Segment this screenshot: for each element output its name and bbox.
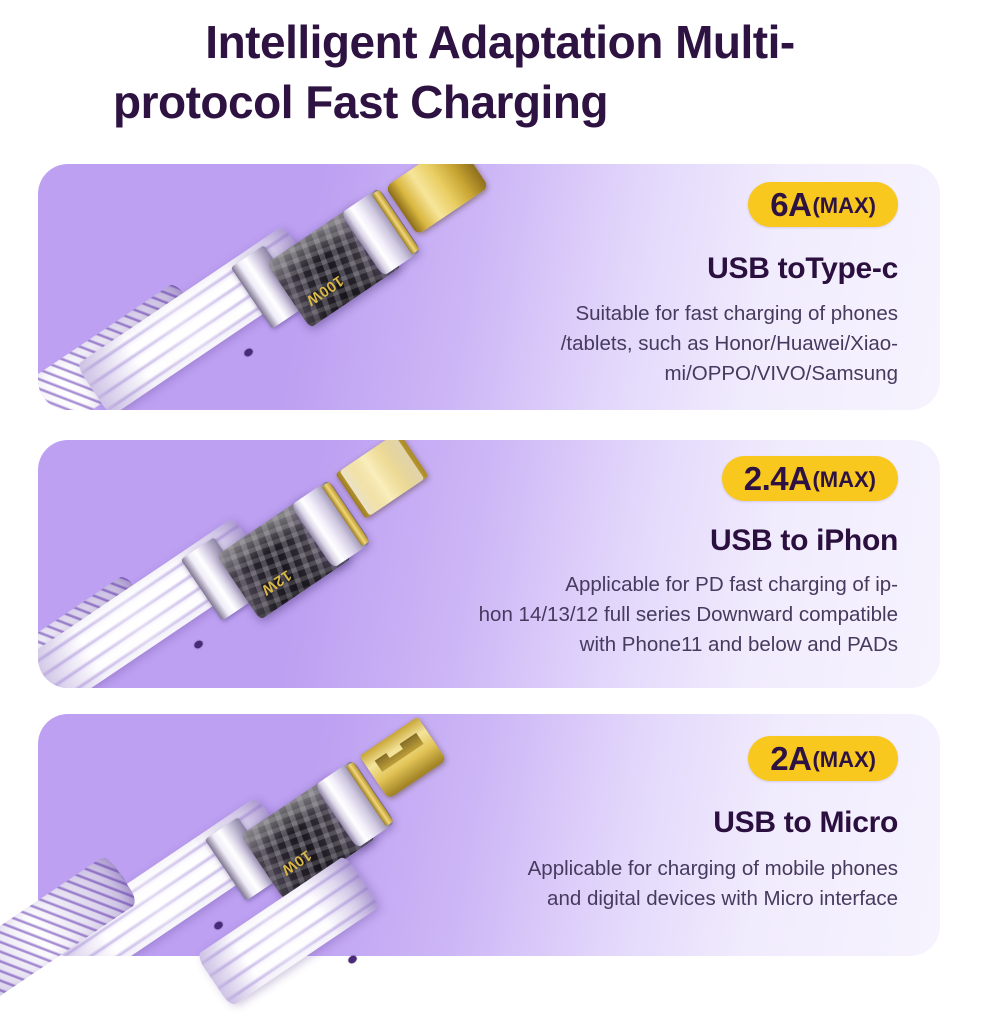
feature-card-usb-c: 100W 6A (MAX) USB toType-c Suitable for …	[38, 164, 940, 410]
connector-gold-ring	[322, 482, 370, 547]
cable-indicator-dot	[243, 347, 254, 358]
cable-jacket	[38, 517, 268, 688]
page-title-line-1: Intelligent Adaptation Multi-	[95, 12, 905, 72]
connector-housing	[241, 774, 376, 900]
micro-usb-notch	[375, 733, 424, 772]
description-line: Suitable for fast charging of phones	[561, 299, 898, 329]
description-line: Applicable for charging of mobile phones	[528, 854, 898, 884]
badge-max-label: (MAX)	[812, 195, 876, 217]
page-title-line-2: protocol Fast Charging	[95, 72, 905, 132]
product-feature-page: Intelligent Adaptation Multi- protocol F…	[0, 0, 1000, 1000]
connector-wattage-label: 12W	[258, 566, 294, 598]
housing-gloss	[267, 202, 373, 285]
housing-gloss	[241, 774, 347, 857]
cable-braid	[38, 573, 159, 688]
housing-gloss	[217, 494, 323, 577]
page-title: Intelligent Adaptation Multi- protocol F…	[0, 12, 1000, 132]
cable-braid	[38, 281, 209, 410]
connector-collar	[205, 817, 280, 901]
status-badge-amperage: 2.4A (MAX)	[722, 456, 898, 501]
description-line: with Phone11 and below and PADs	[479, 630, 898, 660]
connector-collar	[231, 245, 306, 329]
description-line: Applicable for PD fast charging of ip-	[479, 570, 898, 600]
card-description: Applicable for charging of mobile phones…	[528, 854, 898, 914]
feature-card-iphone: 12W 2.4A (MAX) USB to iPhon Applicable f…	[38, 440, 940, 688]
badge-amperage-value: 2.4A	[744, 462, 812, 495]
cable-braid	[38, 857, 143, 956]
connector-housing	[267, 202, 402, 328]
description-line: mi/OPPO/VIVO/Samsung	[561, 359, 898, 389]
badge-max-label: (MAX)	[812, 469, 876, 491]
connector-wattage-label: 10W	[278, 846, 314, 878]
usb-c-plug-icon	[385, 164, 489, 235]
lightning-plug-icon	[335, 440, 428, 519]
cable-indicator-dot	[193, 639, 204, 650]
connector-barrel	[315, 760, 396, 849]
connector-housing	[217, 494, 352, 620]
cable-indicator-dot	[213, 920, 224, 931]
badge-amperage-value: 6A	[770, 188, 811, 221]
lightning-plug-shoulder	[339, 440, 425, 516]
card-heading: USB to iPhon	[710, 524, 898, 558]
cable-jacket	[76, 225, 318, 410]
badge-max-label: (MAX)	[812, 749, 876, 771]
description-line: /tablets, such as Honor/Huawei/Xiao-	[561, 329, 898, 359]
card-description: Applicable for PD fast charging of ip- h…	[479, 570, 898, 660]
connector-barrel	[291, 480, 372, 569]
cable-jacket	[41, 797, 291, 956]
micro-usb-plug-icon	[359, 717, 446, 799]
card-description: Suitable for fast charging of phones /ta…	[561, 299, 898, 389]
connector-gold-ring	[372, 190, 420, 255]
badge-amperage-value: 2A	[770, 742, 811, 775]
card-heading: USB to Micro	[713, 806, 898, 840]
feature-card-micro: 10W 2A (MAX) USB to Micro Applicable for…	[38, 714, 940, 956]
description-line: and digital devices with Micro interface	[528, 884, 898, 914]
connector-barrel	[341, 188, 422, 277]
status-badge-amperage: 2A (MAX)	[748, 736, 898, 781]
connector-wattage-label: 100W	[303, 272, 347, 309]
description-line: hon 14/13/12 full series Downward compat…	[479, 600, 898, 630]
status-badge-amperage: 6A (MAX)	[748, 182, 898, 227]
connector-collar	[181, 537, 256, 621]
card-heading: USB toType-c	[707, 252, 898, 286]
connector-gold-ring	[346, 762, 394, 827]
